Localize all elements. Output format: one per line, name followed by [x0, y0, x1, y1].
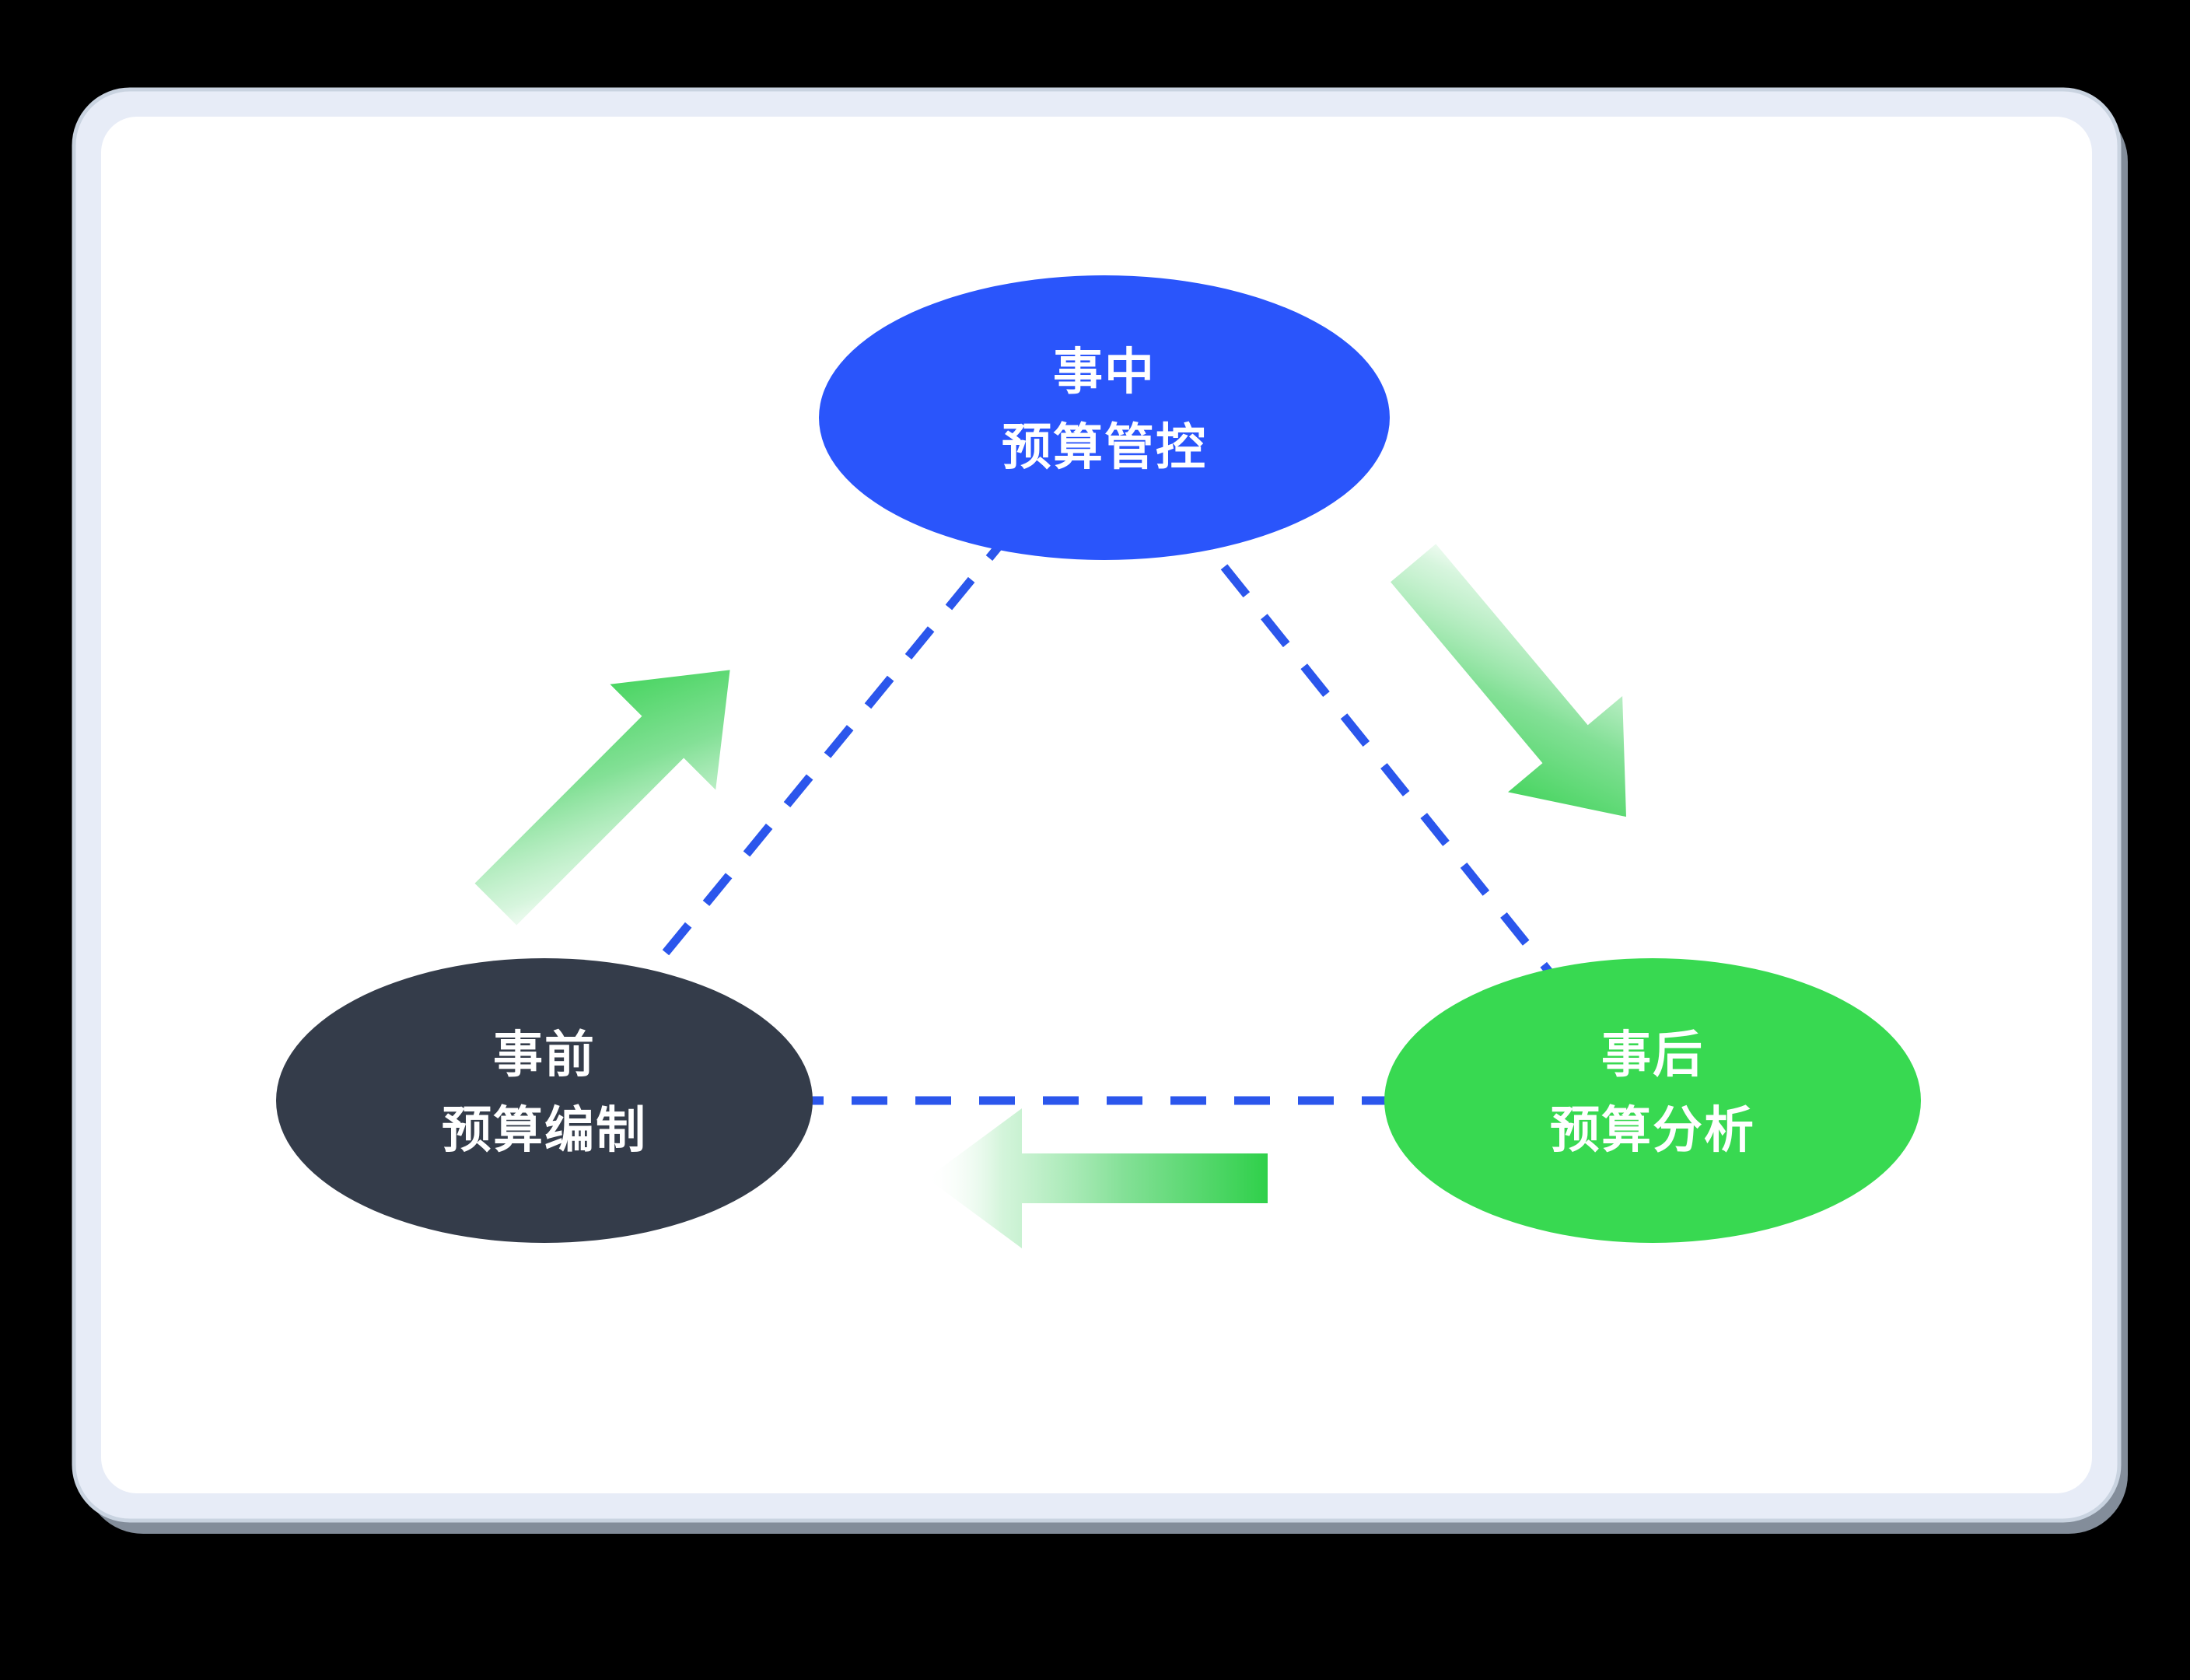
node-after[interactable]: 事后 预算分析 [1384, 958, 1921, 1243]
node-after-shape[interactable] [1384, 958, 1921, 1243]
diagram-stage: 事中 预算管控 事前 预算编制 事后 预算分析 [0, 0, 2190, 1680]
budget-cycle-diagram: 事中 预算管控 事前 预算编制 事后 预算分析 [0, 0, 2190, 1680]
node-before-shape[interactable] [276, 958, 813, 1243]
node-during-line2: 预算管控 [1002, 419, 1207, 475]
node-during-line1: 事中 [1053, 344, 1156, 400]
node-before-line2: 预算编制 [442, 1102, 647, 1158]
node-during-shape[interactable] [819, 275, 1390, 560]
node-after-line1: 事后 [1601, 1027, 1704, 1083]
node-before[interactable]: 事前 预算编制 [276, 958, 813, 1243]
node-after-line2: 预算分析 [1550, 1102, 1755, 1158]
node-during[interactable]: 事中 预算管控 [819, 275, 1390, 560]
node-before-line1: 事前 [493, 1027, 596, 1083]
